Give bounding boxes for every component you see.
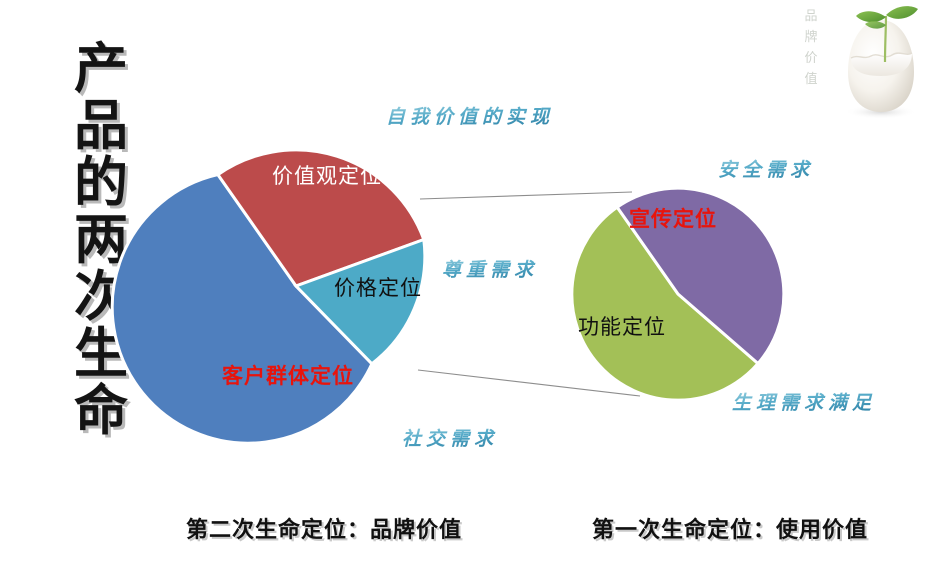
caption-second-life: 第二次生命定位：品牌价值 [186,512,462,544]
pie-label-customer-group: 客户群体定位 [222,360,354,390]
pie-label-price: 价格定位 [334,272,422,302]
annotation-physiological-need: 生理需求满足 [732,388,876,415]
annotation-social-need: 社交需求 [402,424,498,451]
slide-canvas: 产品的两次生命 价值观定位 价格定位 客户群体定位 宣传定位 功能定位 自我价值… [0,0,928,576]
decoration-corner: 品牌价值 [790,0,928,128]
annotation-safety-need: 安全需求 [718,155,814,182]
pie-label-function: 功能定位 [578,311,666,341]
pie-label-value-view: 价值观定位 [272,160,382,190]
annotation-esteem-need: 尊重需求 [442,255,538,282]
decoration-brand-text: 品牌价值 [802,6,820,90]
pie-label-promotion: 宣传定位 [629,203,717,233]
caption-first-life: 第一次生命定位：使用价值 [592,512,868,544]
eggshell-sprout-icon [834,0,928,128]
annotation-self-actualization: 自我价值的实现 [386,102,554,129]
